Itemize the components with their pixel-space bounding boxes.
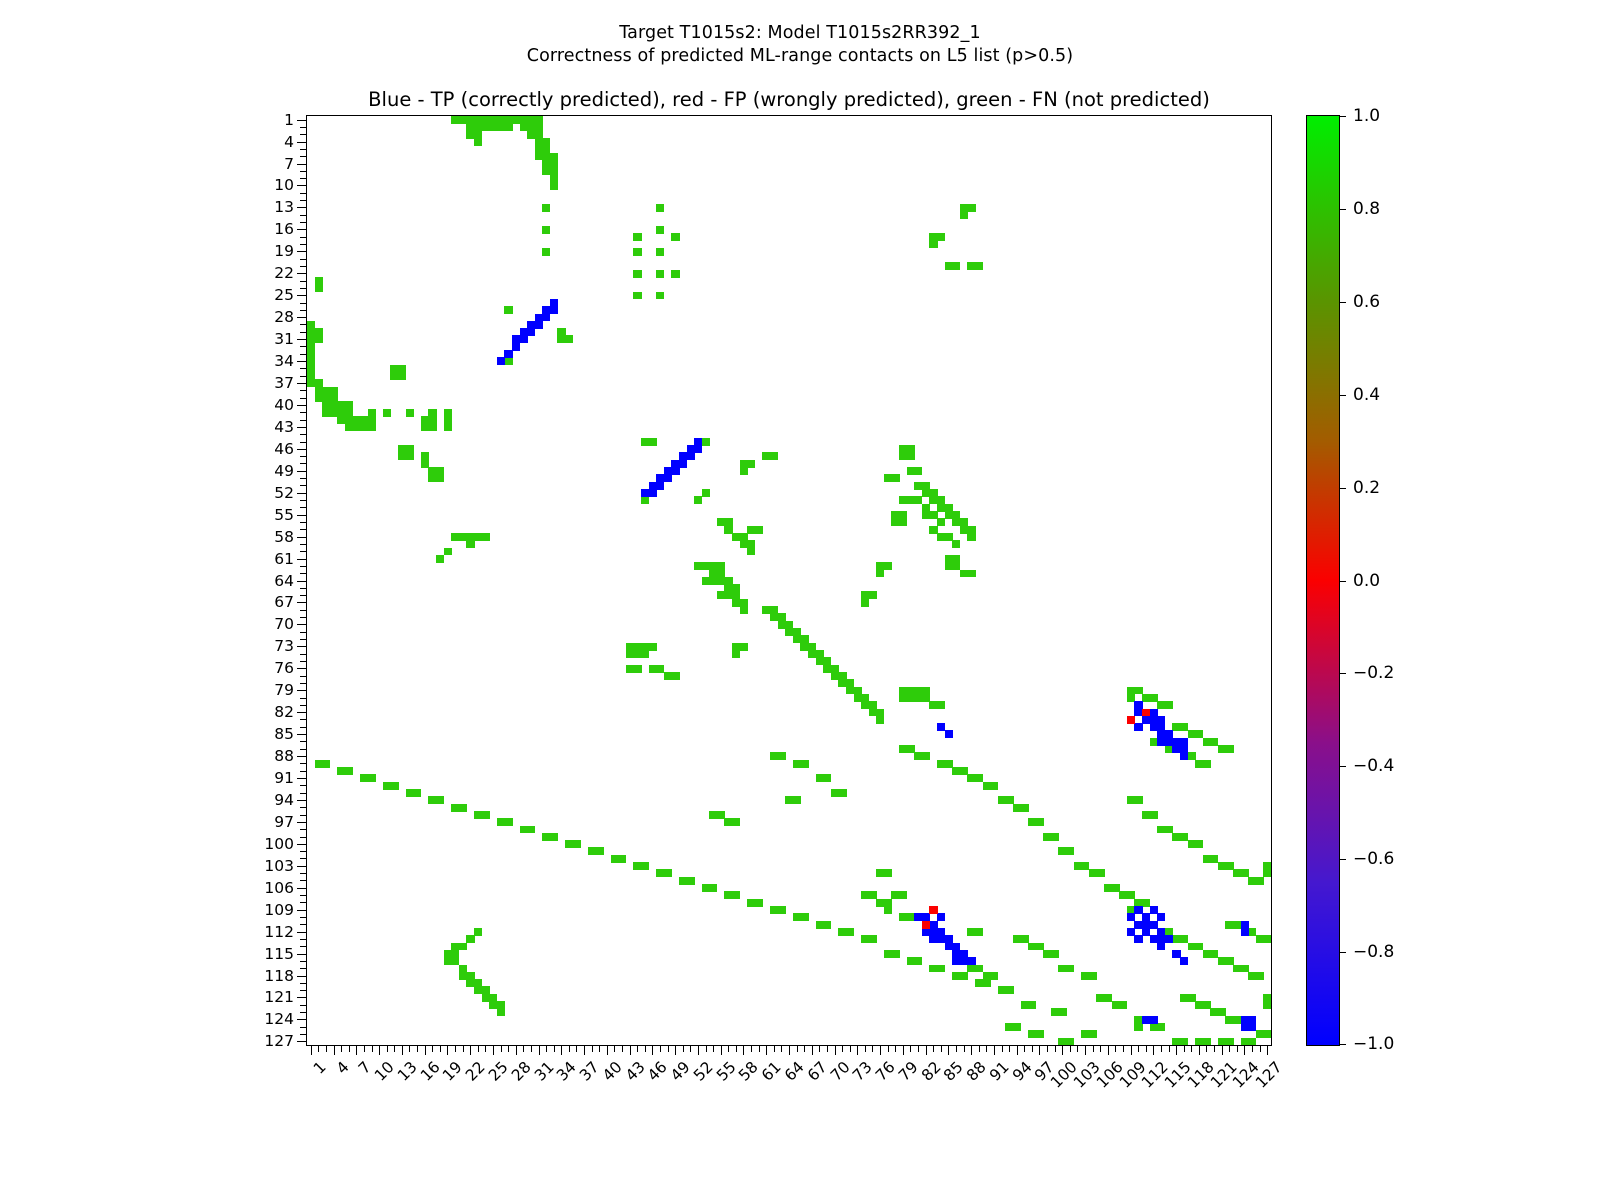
y-tick [297,932,307,933]
y-tick [300,368,307,369]
x-tick [759,1045,760,1052]
y-tick [297,537,307,538]
x-tick [1077,1045,1078,1052]
colorbar-gradient [1307,116,1339,1045]
y-tick [300,719,307,720]
contact-cell-tp [649,489,657,497]
contact-cell-fn [436,796,444,804]
x-tick [501,1045,502,1052]
contact-cell-fn [937,233,945,241]
contact-cell-fn [504,818,512,826]
contact-cell-fn [967,204,975,212]
contact-cell-fn [861,599,869,607]
x-tick [850,1045,851,1052]
y-tick [297,427,307,428]
contact-cell-fn [1195,840,1203,848]
contact-cell-fn [1203,1038,1211,1045]
contact-cell-fn [740,643,748,651]
colorbar-tick-label: 1.0 [1353,106,1380,126]
contact-cell-fn [1036,818,1044,826]
x-tick [835,1045,836,1055]
contact-cell-fn [891,474,899,482]
y-tick [300,178,307,179]
y-tick [297,295,307,296]
contact-cell-fp [1127,716,1135,724]
y-tick-label: 61 [234,550,294,568]
contact-cell-fn [368,774,376,782]
contact-cell-fn [451,943,459,951]
contact-cell-fp [922,921,930,929]
y-tick-label: 106 [234,879,294,897]
y-tick-label: 100 [234,835,294,853]
contact-cell-fn [1066,847,1074,855]
x-tick [326,1045,327,1052]
contact-cell-fn [656,226,664,234]
contact-cell-fn [914,957,922,965]
x-tick [1138,1045,1139,1052]
x-tick [569,1045,570,1052]
contact-cell-fn [846,928,854,936]
colorbar-tick-label: 0.8 [1353,199,1380,219]
contact-cell-fn [633,248,641,256]
x-tick [675,1045,676,1055]
contact-cell-fn [504,357,512,365]
y-tick-label: 25 [234,286,294,304]
y-tick [297,778,307,779]
x-tick [948,1045,949,1055]
y-tick [300,968,307,969]
y-tick [297,317,307,318]
x-tick [607,1045,608,1055]
contact-cell-fn [497,1008,505,1016]
x-tick [463,1045,464,1052]
y-tick [300,749,307,750]
contact-cell-fn [891,950,899,958]
x-tick [819,1045,820,1052]
x-tick [797,1045,798,1052]
y-tick-label: 46 [234,440,294,458]
y-tick [297,756,307,757]
contact-cell-tp [1241,928,1249,936]
y-tick-label: 124 [234,1010,294,1028]
y-tick [297,581,307,582]
contact-cell-fn [687,877,695,885]
y-tick [300,134,307,135]
y-tick [300,456,307,457]
contact-cell-fn [740,467,748,475]
contact-cell-fn [641,862,649,870]
y-tick [300,917,307,918]
y-tick-label: 67 [234,593,294,611]
x-tick [827,1045,828,1052]
contact-cell-fn [573,840,581,848]
x-tick [432,1045,433,1052]
y-tick [300,193,307,194]
contact-cell-fn [565,335,573,343]
contact-cell-tp [1180,752,1188,760]
y-tick [297,493,307,494]
colorbar-tick [1339,302,1346,303]
x-tick [1123,1045,1124,1052]
y-tick [297,229,307,230]
x-tick [668,1045,669,1052]
x-tick [622,1045,623,1052]
x-tick [546,1045,547,1052]
contact-cell-fn [633,292,641,300]
x-tick [1214,1045,1215,1052]
y-tick [300,946,307,947]
y-tick [300,873,307,874]
x-tick [318,1045,319,1052]
contact-cell-fn [747,460,755,468]
contact-cell-fn [633,233,641,241]
x-tick [470,1045,471,1055]
contact-cell-fn [656,292,664,300]
contact-cell-fn [1005,986,1013,994]
contact-cell-fn [800,913,808,921]
contact-cell-fn [1263,1001,1271,1009]
x-tick [781,1045,782,1052]
contact-cell-tp [679,460,687,468]
contact-cell-fn [618,855,626,863]
y-tick [300,529,307,530]
y-tick [300,551,307,552]
x-tick [1146,1045,1147,1052]
contact-cell-fn [1150,811,1158,819]
y-tick-label: 82 [234,703,294,721]
contact-cell-fn [542,204,550,212]
x-tick [425,1045,426,1055]
contact-cell-tp [512,343,520,351]
contact-cell-tp [1157,738,1165,746]
contact-cell-tp [1165,935,1173,943]
y-tick [297,251,307,252]
y-tick [300,200,307,201]
y-tick [297,339,307,340]
contact-cell-fn [702,438,710,446]
y-tick [297,668,307,669]
x-tick [394,1045,395,1052]
contact-cell-fn [550,833,558,841]
contact-cell-fn [755,526,763,534]
y-tick [297,383,307,384]
contact-cell-fn [967,533,975,541]
contact-cell-tp [664,474,672,482]
y-tick [300,595,307,596]
x-tick [652,1045,653,1055]
y-tick [300,310,307,311]
contact-cell-fn [436,555,444,563]
x-tick [478,1045,479,1052]
x-tick [311,1045,312,1055]
contact-cell-tp [1180,957,1188,965]
contact-cell-fn [1263,869,1271,877]
contact-cell-fn [649,438,657,446]
x-tick [1191,1045,1192,1052]
x-tick [1100,1045,1101,1052]
x-tick [1009,1045,1010,1052]
colorbar-tick-label: 0.6 [1353,292,1380,312]
y-tick-label: 88 [234,747,294,765]
contact-cell-fn [952,262,960,270]
x-tick [1017,1045,1018,1055]
colorbar-tick [1339,488,1346,489]
x-tick [706,1045,707,1052]
contact-cell-fn [398,372,406,380]
contact-cell-fn [869,935,877,943]
y-tick-label: 121 [234,988,294,1006]
y-tick [300,661,307,662]
y-tick-label: 64 [234,572,294,590]
contact-cell-fn [922,752,930,760]
y-tick-label: 112 [234,923,294,941]
colorbar-tick-label: 0.0 [1353,571,1380,591]
colorbar-tick-label: −0.4 [1353,756,1394,776]
y-tick [300,1034,307,1035]
contact-cell-fn [542,248,550,256]
x-tick [455,1045,456,1052]
contact-cell-fn [664,869,672,877]
contact-cell-fn [747,548,755,556]
contact-cell-tp [542,314,550,322]
x-tick [910,1045,911,1052]
x-tick [1260,1045,1261,1052]
y-tick [300,895,307,896]
contact-cell-fn [732,818,740,826]
contact-cell-fn [1089,972,1097,980]
contact-cell-fn [1134,1023,1142,1031]
x-tick [1085,1045,1086,1055]
contact-cell-fn [595,847,603,855]
contact-cell-fn [656,248,664,256]
contact-cell-fp [929,906,937,914]
contact-cell-fn [1134,796,1142,804]
x-tick [1229,1045,1230,1052]
x-tick [1039,1045,1040,1055]
contact-cell-tp [687,452,695,460]
contact-cell-fn [1203,760,1211,768]
contact-cell-fn [474,138,482,146]
contact-cell-fn [869,591,877,599]
contact-cell-fn [315,335,323,343]
colorbar: 1.00.80.60.40.20.0−0.2−0.4−0.6−0.8−1.0 [1306,115,1340,1046]
y-tick [300,639,307,640]
x-tick [637,1045,638,1052]
y-tick [300,281,307,282]
y-tick [297,690,307,691]
contact-cell-fn [671,270,679,278]
x-tick [645,1045,646,1052]
contact-map-cells [307,116,1271,1045]
x-tick-label: 7 [355,1058,375,1078]
x-tick [872,1045,873,1052]
contact-cell-fn [1225,745,1233,753]
y-tick-label: 58 [234,528,294,546]
x-tick [1184,1045,1185,1052]
contact-cell-fn [983,979,991,987]
x-tick [409,1045,410,1052]
contact-cell-fn [884,869,892,877]
y-tick [300,763,307,764]
contact-cell-fn [527,826,535,834]
contact-cell-fn [482,533,490,541]
y-tick [300,698,307,699]
contact-cell-tp [694,445,702,453]
x-tick [660,1045,661,1052]
contact-cell-fn [504,306,512,314]
y-tick-label: 40 [234,396,294,414]
contact-cell-fn [444,423,452,431]
y-tick [300,544,307,545]
contact-cell-fn [1165,701,1173,709]
y-tick [300,588,307,589]
x-tick [941,1045,942,1052]
y-tick-label: 43 [234,418,294,436]
y-tick [300,244,307,245]
y-tick [300,727,307,728]
x-tick [1199,1045,1200,1055]
contact-cell-tp [1248,1023,1256,1031]
colorbar-tick-label: −0.8 [1353,942,1394,962]
contact-cell-fn [732,650,740,658]
contact-cell-fn [413,789,421,797]
x-tick [789,1045,790,1055]
y-tick-label: 52 [234,484,294,502]
x-tick [485,1045,486,1052]
contact-cell-tp [671,467,679,475]
y-tick [297,405,307,406]
contact-cell-fn [1263,1030,1271,1038]
x-tick [1115,1045,1116,1052]
contact-cell-fn [671,672,679,680]
contact-cell-tp [641,489,649,497]
contact-cell-fn [436,474,444,482]
x-tick [1252,1045,1253,1052]
y-tick-label: 109 [234,901,294,919]
contact-cell-fn [899,518,907,526]
y-tick-label: 13 [234,198,294,216]
x-tick [440,1045,441,1052]
x-tick [812,1045,813,1055]
contact-cell-fn [1256,877,1264,885]
contact-cell-fn [633,665,641,673]
contact-cell-fn [1248,1038,1256,1045]
contact-cell-fn [1021,804,1029,812]
y-tick [300,858,307,859]
contact-cell-fn [967,570,975,578]
x-tick [1161,1045,1162,1052]
y-tick [300,434,307,435]
y-tick-label: 85 [234,725,294,743]
y-tick-label: 19 [234,242,294,260]
y-tick-label: 76 [234,659,294,677]
y-tick-label: 37 [234,374,294,392]
y-tick [300,617,307,618]
contact-cell-fn [778,752,786,760]
contact-cell-tp [945,730,953,738]
y-tick [297,142,307,143]
x-tick [1055,1045,1056,1052]
contact-cell-fn [694,496,702,504]
x-tick [956,1045,957,1052]
contact-cell-tp [1134,935,1142,943]
contact-cell-fn [778,906,786,914]
contact-cell-fn [1051,833,1059,841]
contact-cell-fn [922,511,930,519]
contact-cell-fn [474,928,482,936]
x-tick [584,1045,585,1055]
contact-cell-fn [656,270,664,278]
y-tick [297,559,307,560]
y-tick [297,273,307,274]
contact-cell-fn [899,891,907,899]
contact-cell-tp [520,335,528,343]
x-tick [1108,1045,1109,1055]
y-tick-label: 31 [234,330,294,348]
contact-cell-tp [1157,913,1165,921]
colorbar-tick-label: 0.4 [1353,385,1380,405]
y-tick [300,500,307,501]
contact-cell-fn [876,570,884,578]
colorbar-tick [1339,859,1346,860]
y-tick [300,442,307,443]
contact-cell-fn [952,540,960,548]
x-tick [903,1045,904,1055]
y-tick [297,449,307,450]
x-tick [1070,1045,1071,1052]
y-tick [300,390,307,391]
contact-cell-fn [1225,1038,1233,1045]
y-tick [300,741,307,742]
contact-map-plot: 1471013161922252831343740434649525558616… [306,115,1272,1046]
x-tick [1206,1045,1207,1052]
contact-cell-tp [929,935,937,943]
colorbar-tick-label: −0.2 [1353,663,1394,683]
contact-cell-fn [641,496,649,504]
y-tick [297,207,307,208]
x-tick [979,1045,980,1052]
y-tick [300,398,307,399]
y-tick [300,851,307,852]
contact-cell-tp [504,350,512,358]
contact-cell-tp [550,306,558,314]
x-tick-label: 4 [333,1058,353,1078]
x-tick [372,1045,373,1052]
axes-title: Blue - TP (correctly predicted), red - F… [306,88,1272,111]
y-tick-label: 28 [234,308,294,326]
y-tick [297,515,307,516]
x-tick [1002,1045,1003,1052]
contact-cell-fn [937,518,945,526]
x-tick [1047,1045,1048,1052]
y-tick [300,705,307,706]
y-tick [300,215,307,216]
contact-cell-fn [914,467,922,475]
y-tick [300,522,307,523]
x-tick [683,1045,684,1052]
contact-cell-fn [800,760,808,768]
contact-cell-fn [550,182,558,190]
x-tick [1237,1045,1238,1052]
x-tick [523,1045,524,1052]
contact-cell-fn [884,562,892,570]
x-tick [880,1045,881,1055]
x-tick [516,1045,517,1055]
x-tick [614,1045,615,1052]
x-tick [918,1045,919,1052]
contact-cell-tp [1157,943,1165,951]
contact-cell-fn [482,811,490,819]
